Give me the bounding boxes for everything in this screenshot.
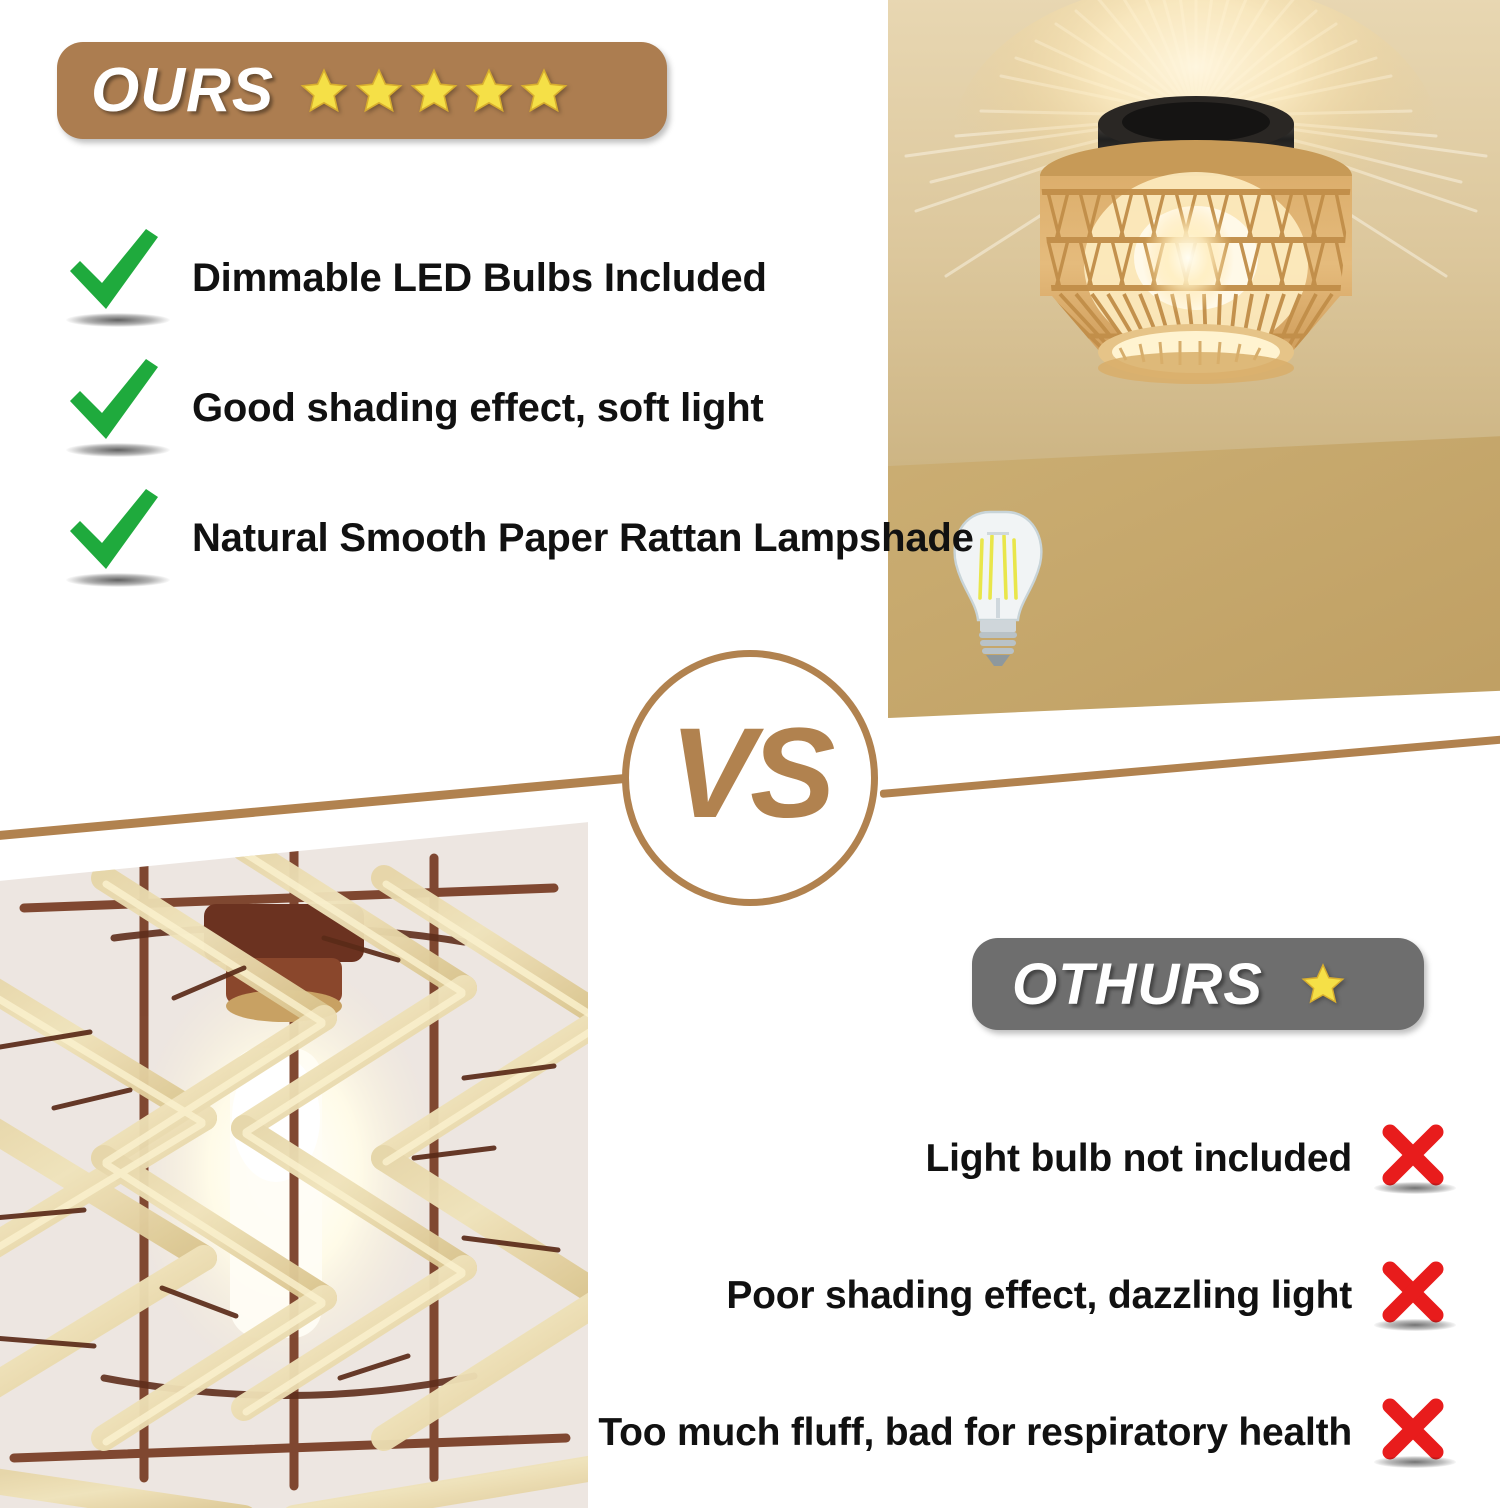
drawback-label: Poor shading effect, dazzling light: [726, 1274, 1352, 1318]
star-icon: [410, 67, 458, 115]
list-item: Good shading effect, soft light: [64, 343, 884, 473]
cross-icon: [1378, 1253, 1456, 1339]
cross-icon: [1378, 1390, 1456, 1476]
star-icon: [355, 67, 403, 115]
divider-line-right: [880, 734, 1500, 798]
feature-label: Natural Smooth Paper Rattan Lampshade: [192, 516, 974, 561]
others-badge: OTHURS: [972, 938, 1424, 1030]
others-drawback-list: Light bulb not included Poor shading eff…: [576, 1090, 1456, 1501]
star-icon: [520, 67, 568, 115]
others-product-photo: [0, 818, 588, 1508]
list-item: Natural Smooth Paper Rattan Lampshade: [64, 473, 884, 603]
ours-star-rating: [300, 67, 568, 115]
check-icon-shadow: [66, 313, 170, 327]
feature-label: Dimmable LED Bulbs Included: [192, 256, 767, 301]
cross-icon-shadow: [1374, 1319, 1456, 1331]
vs-label: VS: [670, 710, 831, 838]
check-icon-shadow: [66, 573, 170, 587]
cross-icon-shadow: [1374, 1182, 1456, 1194]
vs-badge: VS: [622, 650, 878, 906]
star-icon: [300, 67, 348, 115]
check-icon: [64, 353, 176, 463]
list-item: Light bulb not included: [576, 1090, 1456, 1227]
check-icon-shadow: [66, 443, 170, 457]
ours-badge: OURS: [57, 42, 667, 139]
comparison-infographic: VS OURS: [0, 0, 1500, 1500]
ours-product-photo: [888, 0, 1500, 718]
check-icon: [64, 223, 176, 333]
ours-feature-list: Dimmable LED Bulbs Included Good shading…: [64, 213, 884, 603]
drawback-label: Light bulb not included: [926, 1137, 1352, 1181]
list-item: Too much fluff, bad for respiratory heal…: [576, 1364, 1456, 1501]
ours-badge-label: OURS: [91, 55, 274, 126]
others-badge-label: OTHURS: [1012, 951, 1263, 1018]
others-star-rating: [1301, 962, 1345, 1006]
star-icon: [465, 67, 513, 115]
list-item: Poor shading effect, dazzling light: [576, 1227, 1456, 1364]
list-item: Dimmable LED Bulbs Included: [64, 213, 884, 343]
star-icon: [1301, 962, 1345, 1006]
cross-icon-shadow: [1374, 1456, 1456, 1468]
feature-label: Good shading effect, soft light: [192, 386, 764, 431]
drawback-label: Too much fluff, bad for respiratory heal…: [598, 1411, 1352, 1455]
cross-icon: [1378, 1116, 1456, 1202]
check-icon: [64, 483, 176, 593]
